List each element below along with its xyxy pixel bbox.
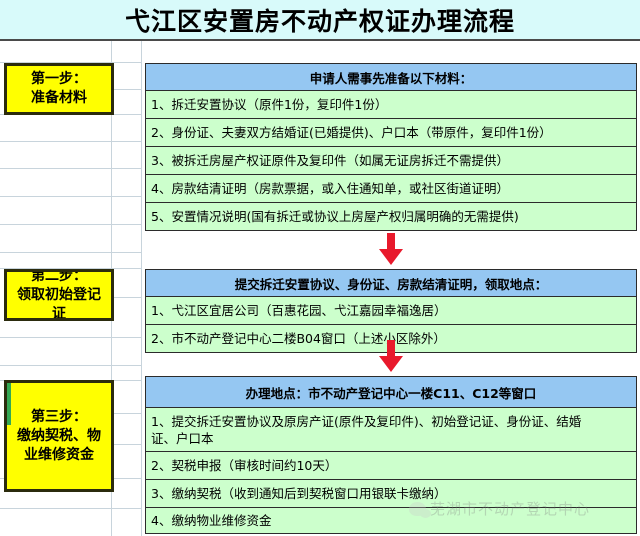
step-1-panel-header: 申请人需事先准备以下材料： [145,63,637,91]
arrow-step2-to-step3 [376,340,406,373]
step-2-panel-header: 提交拆迁安置协议、身份证、房款结清证明，领取地点： [145,269,637,297]
step-3-row-2: 2、契税申报（审核时间约10天） [145,452,637,480]
grid-line-horizontal [0,337,141,338]
step-2-header-text: 提交拆迁安置协议、身份证、房款结清证明，领取地点： [235,274,548,293]
grid-line-horizontal [111,413,141,414]
step-1-label-line2: 准备材料 [31,89,87,108]
step-1-label-line1: 第一步： [31,70,87,89]
step-2-label-line2: 领取初始登记 [17,286,101,305]
step-1-row-3-text: 3、被拆迁房屋产权证原件及复印件（如属无证房拆迁不需提供） [151,152,509,169]
step-3-label-line1: 第三步： [31,408,87,427]
grid-line-horizontal [0,168,141,169]
step-box-2[interactable]: 第二步： 领取初始登记 证 [4,269,114,321]
page-title: 弋江区安置房不动产权证办理流程 [125,2,515,38]
grid-line-horizontal [111,89,141,90]
step-1-row-3: 3、被拆迁房屋产权证原件及复印件（如属无证房拆迁不需提供） [145,147,637,175]
grid-line-horizontal [0,252,141,253]
flowchart-sheet: 弋江区安置房不动产权证办理流程 第一步： 准备材料 申请人需事先准备以下材料： … [0,0,640,536]
step-box-1[interactable]: 第一步： 准备材料 [4,63,114,115]
step-1-row-2-text: 2、身份证、夫妻双方结婚证(已婚提供)、户口本（带原件，复印件1份） [151,124,552,141]
step-3-label-line3: 业维修资金 [24,446,94,465]
step-3-row-4-text: 4、缴纳物业维修资金 [151,512,271,529]
step-3-row-3-text: 3、缴纳契税（收到通知后到契税窗口用银联卡缴纳） [151,485,446,502]
document-title-bar: 弋江区安置房不动产权证办理流程 [0,0,640,41]
step-1-panel: 申请人需事先准备以下材料： 1、拆迁安置协议（原件1份，复印件1份） 2、身份证… [145,63,637,231]
step-3-row-2-text: 2、契税申报（审核时间约10天） [151,457,337,474]
step-1-row-4: 4、房款结清证明（房款票据，或入住通知单，或社区街道证明） [145,175,637,203]
step-1-row-5-text: 5、安置情况说明(国有拆迁或协议上房屋产权归属明确的无需提供) [151,208,519,225]
step-1-row-5: 5、安置情况说明(国有拆迁或协议上房屋产权归属明确的无需提供) [145,203,637,231]
step-3-label-line2: 缴纳契税、物 [17,427,101,446]
grid-line-horizontal [111,444,141,445]
step-3-panel-header: 办理地点：市不动产登记中心一楼C11、C12等窗口 [145,376,637,408]
grid-line-horizontal [0,196,141,197]
grid-line-vertical [141,41,142,536]
grid-line-horizontal [0,365,141,366]
grid-line-horizontal [111,297,141,298]
step-1-header-text: 申请人需事先准备以下材料： [310,68,473,87]
arrow-step1-to-step2 [376,233,406,266]
step-1-row-1-text: 1、拆迁安置协议（原件1份，复印件1份） [151,96,387,113]
step-2-label-line1: 第二步： [31,269,87,286]
step-box-3[interactable]: 第三步： 缴纳契税、物 业维修资金 [4,380,114,492]
step-2-row-1-text: 1、弋江区宜居公司（百惠花园、弋江嘉园幸福逸居） [151,302,446,319]
grid-line-horizontal [0,508,141,509]
step-3-header-text: 办理地点：市不动产登记中心一楼C11、C12等窗口 [246,383,537,402]
grid-line-horizontal [0,224,141,225]
step-1-row-4-text: 4、房款结清证明（房款票据，或入住通知单，或社区街道证明） [151,180,509,197]
step-3-accent-bar [7,383,11,425]
step-3-row-1-text-cont: 证、户口本 [151,430,214,447]
step-1-row-2: 2、身份证、夫妻双方结婚证(已婚提供)、户口本（带原件，复印件1份） [145,119,637,147]
step-3-row-4: 4、缴纳物业维修资金 [145,508,637,534]
grid-line-horizontal [0,141,141,142]
step-3-row-3: 3、缴纳契税（收到通知后到契税窗口用银联卡缴纳） [145,480,637,508]
step-3-panel: 办理地点：市不动产登记中心一楼C11、C12等窗口 1、提交拆迁安置协议及原房产… [145,376,637,534]
step-2-row-1: 1、弋江区宜居公司（百惠花园、弋江嘉园幸福逸居） [145,297,637,325]
step-3-row-1: 1、提交拆迁安置协议及原房产证(原件及复印件)、初始登记证、身份证、结婚 证、户… [145,408,637,452]
step-2-label-line3: 证 [52,305,66,322]
step-1-row-1: 1、拆迁安置协议（原件1份，复印件1份） [145,91,637,119]
step-3-row-1-text: 1、提交拆迁安置协议及原房产证(原件及复印件)、初始登记证、身份证、结婚 [151,413,581,430]
